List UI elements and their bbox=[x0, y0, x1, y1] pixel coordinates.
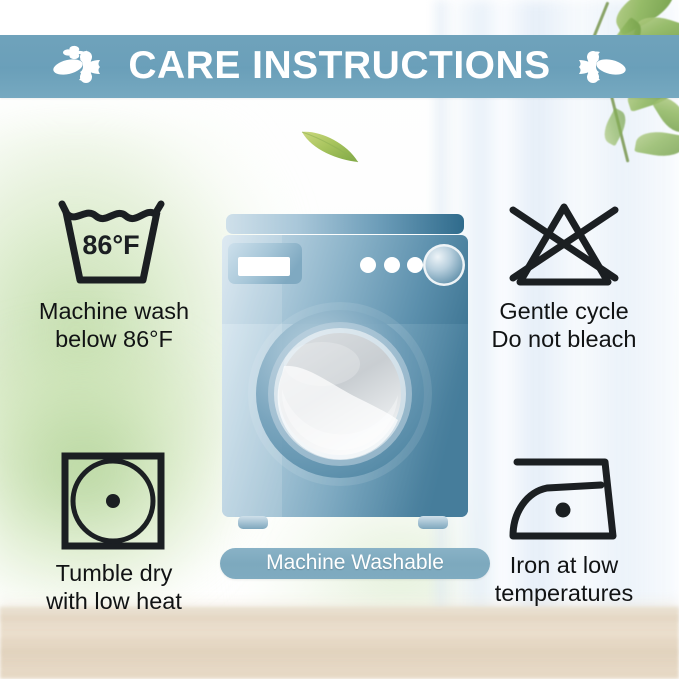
header-banner: CARE INSTRUCTIONS bbox=[0, 35, 679, 98]
machine-washable-badge: Machine Washable bbox=[220, 548, 490, 579]
floating-leaf-icon bbox=[300, 124, 362, 166]
triangle-crossed-icon bbox=[460, 198, 668, 290]
care-caption-iron: Iron at low temperatures bbox=[460, 552, 668, 607]
fleur-de-lis-right-icon bbox=[567, 44, 627, 90]
care-caption-machine-wash: Machine wash below 86°F bbox=[10, 298, 218, 353]
background-wood-grain bbox=[0, 607, 679, 679]
iron-one-dot-icon bbox=[460, 452, 668, 544]
wash-tub-icon: 86°F bbox=[10, 198, 218, 290]
care-caption-tumble-dry: Tumble dry with low heat bbox=[10, 560, 218, 615]
wash-temperature-label: 86°F bbox=[82, 230, 139, 260]
badge-label: Machine Washable bbox=[266, 552, 444, 575]
washing-machine-illustration bbox=[222, 214, 468, 536]
care-instructions-infographic: CARE INSTRUCTIONS 86°F Machine wash belo… bbox=[0, 0, 679, 679]
care-symbol-machine-wash: 86°F Machine wash below 86°F bbox=[10, 198, 218, 353]
fleur-de-lis-left-icon bbox=[52, 44, 112, 90]
tumble-dry-icon bbox=[10, 450, 218, 552]
care-caption-do-not-bleach: Gentle cycle Do not bleach bbox=[460, 298, 668, 353]
care-symbol-iron: Iron at low temperatures bbox=[460, 452, 668, 607]
care-symbol-tumble-dry: Tumble dry with low heat bbox=[10, 450, 218, 615]
page-title: CARE INSTRUCTIONS bbox=[128, 46, 550, 88]
care-symbol-do-not-bleach: Gentle cycle Do not bleach bbox=[460, 198, 668, 353]
